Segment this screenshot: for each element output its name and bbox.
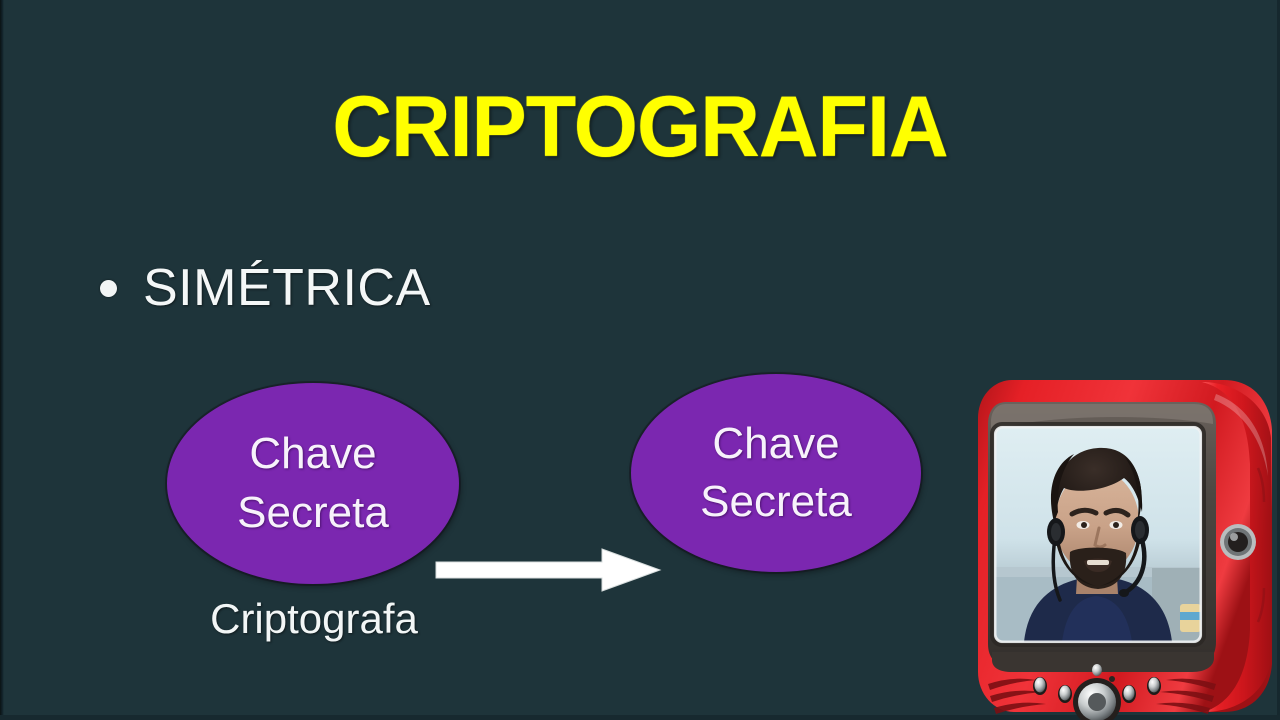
frame-edge-left <box>0 0 4 720</box>
diagram-node-key-right: Chave Secreta <box>631 374 921 572</box>
diagram-node-key-left: Chave Secreta <box>167 383 459 584</box>
slide-canvas: CRIPTOGRAFIA SIMÉTRICA Chave Secreta Cha… <box>0 0 1280 720</box>
webcam-video-screen <box>995 427 1201 642</box>
key-right-line2: Secreta <box>700 473 852 531</box>
bullet-label: SIMÉTRICA <box>143 262 431 314</box>
key-left-line2: Secreta <box>237 484 389 542</box>
key-left-line1: Chave <box>249 425 376 483</box>
side-knob <box>1220 524 1256 560</box>
key-right-line1: Chave <box>712 415 839 473</box>
slide-title: CRIPTOGRAFIA <box>26 84 1255 170</box>
webcam-overlay[interactable] <box>966 372 1280 720</box>
diagram-arrow-right-icon <box>434 548 664 592</box>
bullet-dot-icon <box>100 280 117 297</box>
bullet-item-simetrica: SIMÉTRICA <box>100 262 431 314</box>
diagram-caption-criptografa: Criptografa <box>168 596 460 642</box>
